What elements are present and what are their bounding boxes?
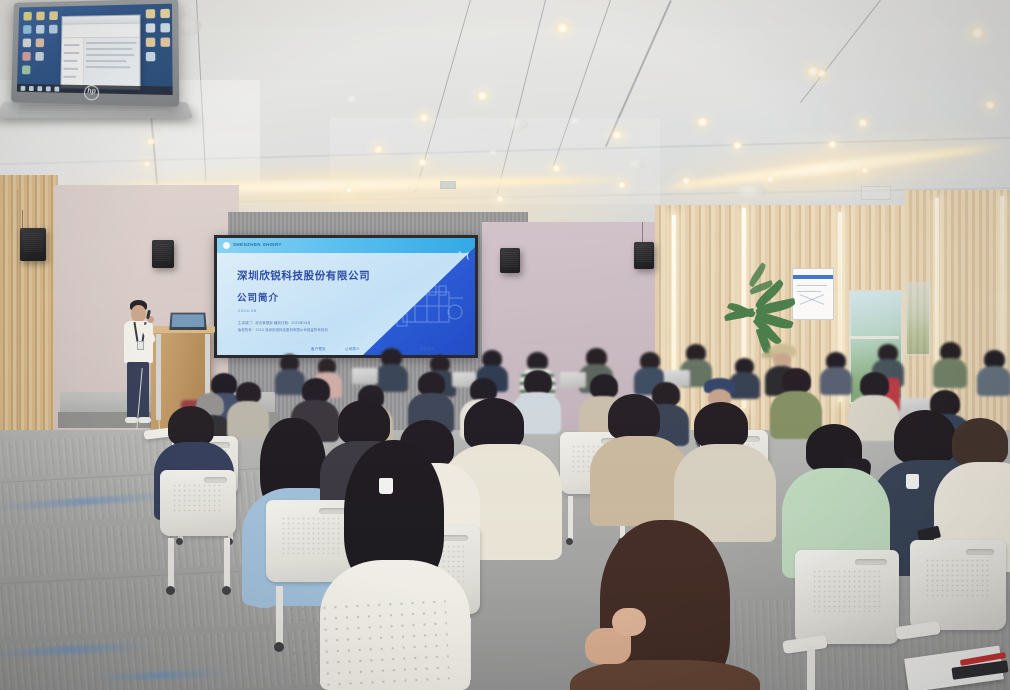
window-list-row[interactable] (86, 42, 136, 44)
window-list-row[interactable] (64, 52, 79, 54)
ceiling-vent (440, 181, 456, 189)
attendee-hair (524, 370, 552, 394)
window-mullion (849, 336, 899, 339)
attendee-hair (694, 402, 748, 448)
chair-leg (276, 586, 283, 646)
ceiling-downlight (858, 119, 868, 127)
window-list-row[interactable] (86, 60, 126, 62)
window-list-row[interactable] (63, 68, 78, 70)
attendee-hair (894, 410, 956, 464)
ceiling-downlight-dim (570, 118, 579, 124)
attendee-hair (418, 372, 445, 395)
chair-handle (319, 508, 347, 514)
window-list-row[interactable] (64, 44, 79, 46)
foreground-laptop[interactable]: hp (0, 0, 190, 124)
attendee-hair (236, 382, 261, 403)
ceiling-downlight (496, 196, 504, 202)
ceiling-downlight (697, 118, 708, 126)
ceiling-downlight (419, 114, 429, 122)
attendee-hair (590, 374, 618, 398)
ceiling-downlight (552, 165, 561, 172)
desktop-icon[interactable] (160, 9, 170, 18)
ceiling-downlight-dim (489, 150, 497, 155)
window-toolbar[interactable] (62, 24, 139, 39)
presenter-shoe (138, 417, 151, 423)
laptop-lid (560, 372, 586, 388)
ceiling-downlight (146, 138, 155, 145)
slide-technical-graphic (395, 276, 467, 334)
desktop-icon[interactable] (49, 11, 58, 20)
desktop-icon[interactable] (36, 25, 45, 34)
chair-leg (568, 496, 573, 542)
attendee-hair (211, 373, 237, 395)
ceiling-downlight (682, 178, 690, 184)
laptop-screen[interactable] (17, 4, 173, 95)
ceiling-speaker-icon (627, 160, 645, 170)
chair-perforation (812, 569, 883, 612)
taskbar-icon[interactable] (37, 86, 42, 91)
chair-caster (566, 538, 573, 545)
wall-speaker-icon (152, 240, 174, 268)
poster-header-band (793, 275, 833, 279)
desktop-icon[interactable] (22, 65, 31, 74)
ceiling-downlight (556, 23, 569, 33)
desktop-icon[interactable] (146, 38, 155, 47)
wall-speaker-icon (20, 228, 46, 261)
company-logo-icon (223, 242, 230, 249)
slide-meta-line-1: 主讲部门：综合管理部 编制日期：2024年08月 (238, 320, 311, 325)
presentation-slide: SHENZHEN SHINRY 》( 深圳欣锐科技股份有限公司 公司简介 202… (217, 238, 475, 355)
slide-footer-item: 公司简介 (345, 346, 360, 351)
training-chair (160, 470, 240, 600)
chair-caster (274, 642, 284, 652)
chair-perforation (172, 483, 224, 513)
attendee-hair (302, 378, 330, 402)
presenter-badge (137, 341, 144, 350)
attendee-torso (977, 366, 1010, 396)
poster-line (797, 285, 827, 286)
ceiling-downlight (612, 131, 622, 139)
chair-handle (855, 559, 886, 565)
desktop-icon[interactable] (23, 12, 31, 21)
poster-line (797, 291, 821, 292)
chair-perforation (281, 516, 344, 554)
attendee-hair (652, 382, 680, 406)
desktop-icon[interactable] (49, 25, 58, 34)
desktop-icon[interactable] (146, 23, 155, 32)
ceiling-downlight (345, 187, 353, 193)
ceiling-downlight (733, 142, 742, 149)
chair-handle (966, 549, 995, 555)
slide-footer-item: 研发体系 (420, 346, 435, 351)
attendee-torso (227, 401, 269, 439)
chair-back (910, 540, 1006, 630)
desktop-icon[interactable] (35, 52, 44, 61)
ceiling-speaker-icon (735, 185, 767, 198)
hand-on-keyboard (612, 608, 646, 636)
file-manager-window[interactable] (60, 14, 140, 90)
ceiling-vent (861, 186, 891, 200)
ceiling-downlight (618, 182, 626, 188)
ceiling-downlight (828, 141, 837, 148)
laptop-keyboard[interactable] (17, 105, 169, 114)
slide-subtitle: 公司简介 (237, 290, 279, 304)
wall-poster (792, 268, 834, 320)
attendee-hair (608, 394, 660, 440)
attendee-torso (275, 369, 305, 395)
window-list-row[interactable] (86, 54, 134, 56)
ceiling-downlight (971, 28, 984, 38)
chair-leg (168, 538, 174, 590)
ceiling-downlight (374, 146, 383, 153)
training-chair (795, 550, 903, 690)
lectern-laptop-screen (172, 314, 205, 327)
paper-cup (906, 474, 919, 489)
window-list-row[interactable] (64, 60, 78, 62)
attendee-torso (570, 660, 760, 690)
company-logo-text: SHENZHEN SHINRY (233, 242, 282, 247)
ceiling-downlight (143, 161, 151, 167)
attendee-hair (952, 418, 1008, 466)
desktop-icon[interactable] (146, 9, 155, 18)
hp-logo-icon: hp (84, 85, 99, 101)
chair-back (160, 470, 236, 536)
attendee-torso (933, 358, 967, 388)
taskbar-icon[interactable] (21, 85, 26, 90)
projection-screen: SHENZHEN SHINRY 》( 深圳欣锐科技股份有限公司 公司简介 202… (214, 235, 478, 358)
paper-cup (379, 478, 393, 494)
ceiling-downlight (985, 101, 995, 109)
chair-caster (166, 586, 175, 595)
taskbar-icon[interactable] (29, 86, 34, 91)
chair-handle (204, 477, 227, 483)
attendee-torso (820, 367, 852, 395)
desktop-icon[interactable] (36, 12, 45, 21)
ceiling-downlight (766, 176, 774, 182)
attendee-head (773, 353, 791, 367)
slide-corner-mark: 》( (458, 250, 469, 261)
wall-speaker-icon (634, 242, 654, 269)
window-list-row[interactable] (86, 48, 132, 50)
ceiling-downlight-dim (347, 96, 356, 102)
desktop-icon[interactable] (36, 38, 45, 47)
desktop-icon[interactable] (22, 52, 31, 61)
slide-footer-item: 客户理念 (311, 346, 326, 351)
laptop-lid (352, 368, 378, 384)
potted-plant-left (744, 272, 784, 332)
speaker-cable (22, 210, 23, 232)
desktop-icon[interactable] (23, 25, 31, 34)
slide-title: 深圳欣锐科技股份有限公司 (237, 268, 370, 283)
ceiling-speaker-icon (506, 118, 528, 131)
wall-speaker-icon (500, 248, 520, 273)
ceiling-downlight (861, 167, 869, 173)
speaker-cable (642, 222, 643, 244)
attendee-hair (782, 368, 811, 393)
window-list-row[interactable] (86, 66, 130, 68)
ceiling-downlight (477, 92, 488, 100)
chair-leg (224, 538, 230, 590)
presenter-at-podium (118, 300, 168, 430)
lectern-laptop (169, 313, 206, 330)
slide-date: 2024.08 (238, 308, 257, 313)
window (905, 282, 931, 356)
desktop-icon[interactable] (160, 23, 170, 32)
ceiling-downlight (418, 159, 427, 166)
ceiling-downlight (817, 70, 826, 77)
desk-surface (286, 596, 450, 690)
slide-meta-line-2: 版权所有 · 2024 深圳欣锐科技股份有限公司保留所有权利 (238, 327, 328, 332)
chair-caster (222, 586, 231, 595)
taskbar-icon[interactable] (46, 86, 51, 91)
taskbar-icon[interactable] (54, 86, 59, 91)
presenter-head (131, 305, 146, 322)
chair-perforation (925, 558, 990, 599)
desktop-icon[interactable] (146, 52, 155, 61)
chair-leg (807, 646, 815, 690)
desktop-icon[interactable] (23, 39, 31, 48)
window-list-row[interactable] (63, 76, 76, 78)
attendee-hair (860, 372, 889, 397)
attendee-hair (338, 400, 390, 445)
laptop-lid: hp (11, 0, 179, 107)
desktop-icon[interactable] (161, 38, 171, 47)
conference-room-photo: SHENZHEN SHINRY 》( 深圳欣锐科技股份有限公司 公司简介 202… (0, 0, 1010, 690)
attendee-hair (168, 406, 214, 446)
attendee-hair (464, 398, 524, 450)
chair-back (795, 550, 899, 644)
